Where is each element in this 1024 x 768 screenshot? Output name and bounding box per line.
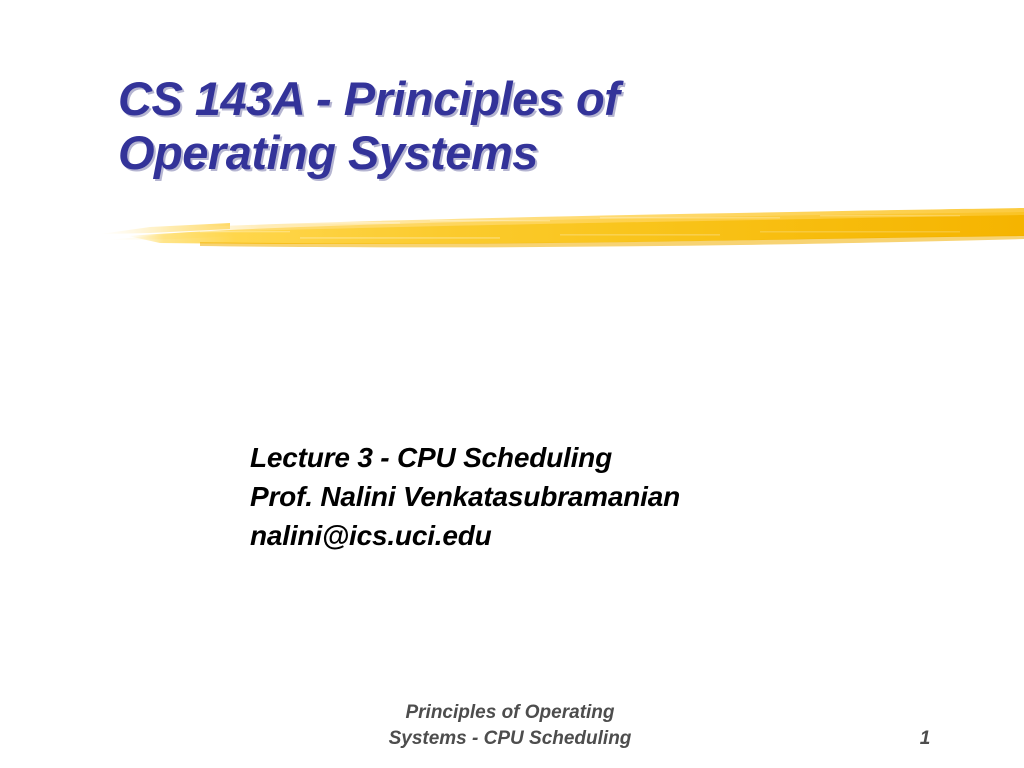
slide-body: Lecture 3 - CPU Scheduling Prof. Nalini … [250, 438, 950, 555]
body-line-email: nalini@ics.uci.edu [250, 516, 950, 555]
slide-footer: Principles of Operating Systems - CPU Sc… [0, 700, 1024, 760]
footer-text: Principles of Operating Systems - CPU Sc… [330, 700, 690, 752]
slide-canvas: CS 143A - Principles of Operating System… [0, 0, 1024, 768]
footer-line-1: Principles of Operating [330, 700, 690, 726]
footer-line-2: Systems - CPU Scheduling [330, 726, 690, 752]
title-line-2: Operating Systems [118, 126, 908, 180]
body-line-instructor: Prof. Nalini Venkatasubramanian [250, 477, 950, 516]
slide-title: CS 143A - Principles of Operating System… [118, 72, 908, 180]
body-line-lecture: Lecture 3 - CPU Scheduling [250, 438, 950, 477]
title-line-1: CS 143A - Principles of [118, 72, 908, 126]
page-number: 1 [900, 726, 950, 752]
brush-stroke-divider-icon [0, 196, 1024, 254]
